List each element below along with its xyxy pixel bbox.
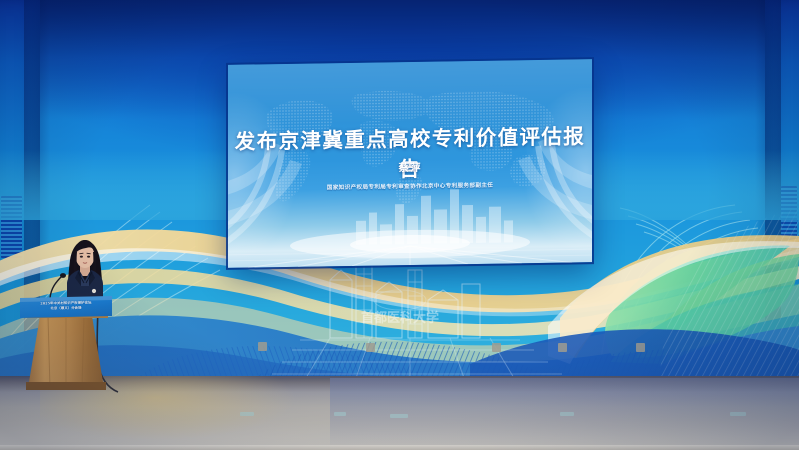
floor-tape-mark	[390, 414, 408, 418]
floor-tape-mark	[560, 412, 574, 416]
floor-tape-mark	[334, 412, 346, 416]
lectern	[18, 294, 114, 390]
floor-tape-mark	[240, 412, 254, 416]
floor-tape-mark	[730, 412, 746, 416]
stage-photograph: 首都医科大学	[0, 0, 799, 450]
backdrop-line-art-text: 首都医科大学	[361, 310, 439, 326]
projection-screen: 发布京津冀重点高校专利价值评估报告 蔡萍 国家知识产权局专利局专利审查协作北京中…	[228, 59, 592, 268]
stage-front-edge	[0, 445, 799, 450]
